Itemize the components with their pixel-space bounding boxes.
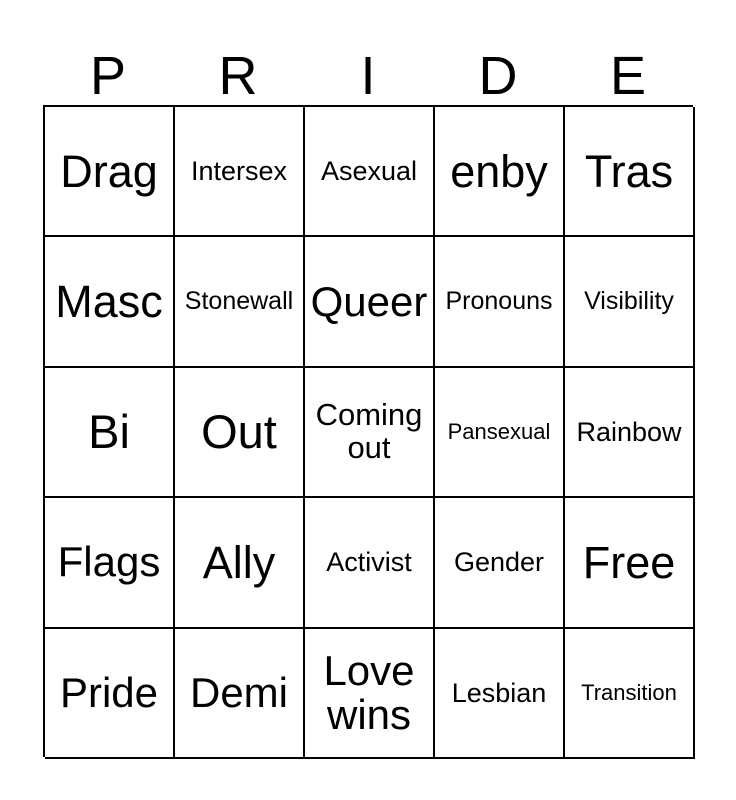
bingo-cell-label: Drag (46, 148, 172, 195)
bingo-cell[interactable]: Flags (45, 498, 175, 628)
bingo-cell[interactable]: Coming out (305, 368, 435, 498)
bingo-cell-label: enby (436, 148, 562, 195)
bingo-cell[interactable]: Masc (45, 237, 175, 367)
bingo-cell[interactable]: Pronouns (435, 237, 565, 367)
bingo-card: P R I D E Drag Intersex Asexual enby Tra… (0, 0, 736, 800)
bingo-cell[interactable]: Pride (45, 629, 175, 759)
bingo-cell-label: Out (176, 407, 302, 456)
bingo-cell[interactable]: Ally (175, 498, 305, 628)
bingo-cell-label: Tras (566, 148, 692, 195)
bingo-cell[interactable]: Intersex (175, 107, 305, 237)
bingo-cell[interactable]: Demi (175, 629, 305, 759)
bingo-cell-label: Coming out (306, 399, 432, 464)
bingo-cell[interactable]: enby (435, 107, 565, 237)
bingo-cell-label: Transition (566, 681, 692, 704)
bingo-cell-label: Bi (46, 407, 172, 456)
bingo-cell[interactable]: Lesbian (435, 629, 565, 759)
bingo-cell[interactable]: Drag (45, 107, 175, 237)
bingo-header-row: P R I D E (43, 24, 693, 105)
bingo-cell[interactable]: Transition (565, 629, 695, 759)
bingo-cell-label: Flags (46, 540, 172, 584)
header-letter-5: E (563, 24, 693, 105)
bingo-cell[interactable]: Rainbow (565, 368, 695, 498)
bingo-cell-label: Activist (306, 548, 432, 576)
bingo-cell-label: Queer (306, 280, 432, 324)
bingo-cell-label: Visibility (566, 288, 692, 314)
bingo-cell-label: Ally (176, 539, 302, 586)
bingo-cell[interactable]: Bi (45, 368, 175, 498)
bingo-cell-label: Pansexual (436, 420, 562, 443)
bingo-cell[interactable]: Love wins (305, 629, 435, 759)
bingo-cell-label: Free (566, 539, 692, 586)
bingo-cell[interactable]: Visibility (565, 237, 695, 367)
bingo-cell[interactable]: Tras (565, 107, 695, 237)
bingo-cell-label: Gender (436, 548, 562, 576)
header-letter-1: P (43, 24, 173, 105)
bingo-grid: Drag Intersex Asexual enby Tras Masc Sto… (43, 105, 693, 757)
bingo-cell-label: Lesbian (436, 679, 562, 707)
bingo-cell[interactable]: Asexual (305, 107, 435, 237)
bingo-cell-label: Intersex (176, 157, 302, 185)
bingo-cell[interactable]: Pansexual (435, 368, 565, 498)
bingo-cell[interactable]: Activist (305, 498, 435, 628)
bingo-cell-label: Stonewall (176, 288, 302, 314)
bingo-cell-label: Love wins (306, 649, 432, 737)
bingo-cell-label: Pronouns (436, 288, 562, 314)
bingo-cell[interactable]: Out (175, 368, 305, 498)
bingo-cell[interactable]: Queer (305, 237, 435, 367)
bingo-cell-label: Rainbow (566, 418, 692, 446)
bingo-cell-label: Asexual (306, 157, 432, 185)
header-letter-3: I (303, 24, 433, 105)
header-letter-4: D (433, 24, 563, 105)
bingo-cell-label: Demi (176, 671, 302, 715)
header-letter-2: R (173, 24, 303, 105)
bingo-cell[interactable]: Gender (435, 498, 565, 628)
bingo-cell-label: Masc (46, 278, 172, 325)
bingo-cell-label: Pride (46, 671, 172, 715)
bingo-cell[interactable]: Stonewall (175, 237, 305, 367)
bingo-cell[interactable]: Free (565, 498, 695, 628)
